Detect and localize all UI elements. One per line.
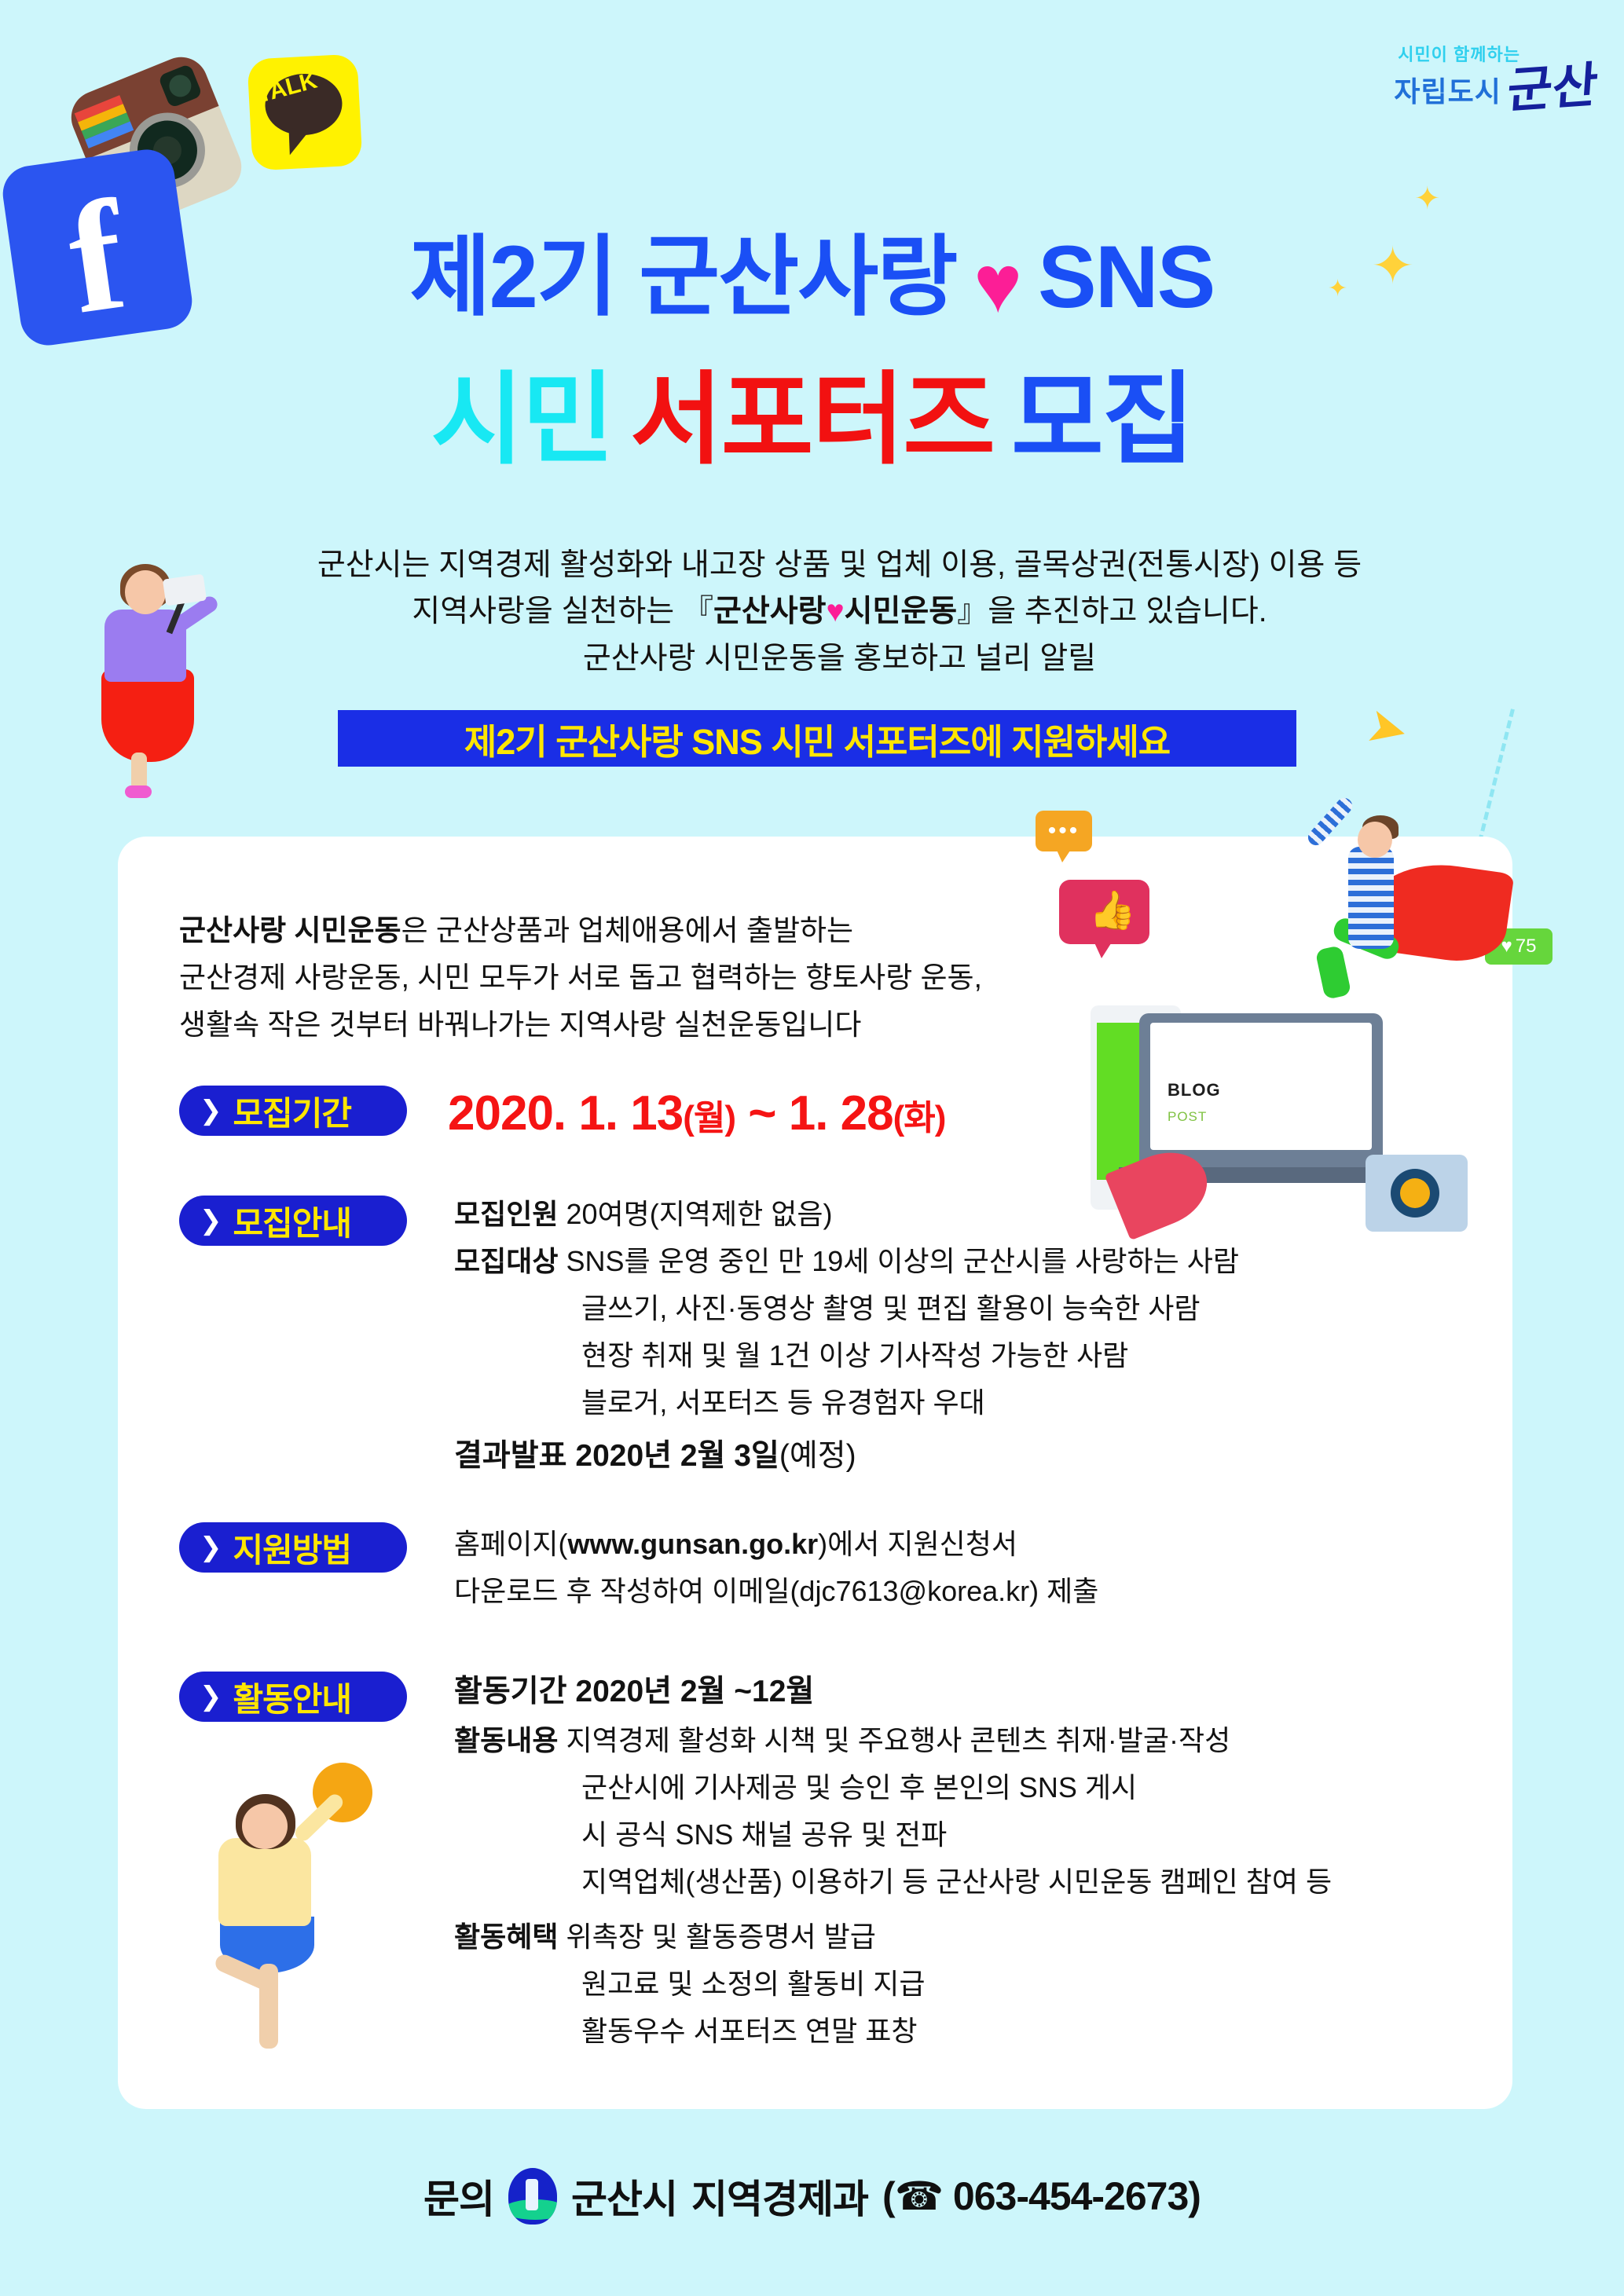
logo-brandmark: 군산 xyxy=(1506,63,1600,113)
telephone-icon: ☎ xyxy=(895,2174,943,2218)
period-start-day: (월) xyxy=(683,1099,735,1137)
post-label: POST xyxy=(1168,1109,1207,1125)
poster-root: TALK f 시민이 함께하는 자립도시 군산 ✦ ✦ ✦ 제2기 군산사랑♥S… xyxy=(0,0,1624,2296)
heart-icon: ♥ xyxy=(827,595,845,628)
result-note: (예정) xyxy=(779,1439,856,1473)
poster-title-line1: 제2기 군산사랑♥SNS xyxy=(0,206,1624,333)
logo-tagline: 시민이 함께하는 xyxy=(1394,41,1520,66)
period-start: 2020. 1. 13 xyxy=(448,1086,683,1141)
intro-line2-bold-a: 군산사랑 xyxy=(713,595,827,628)
activity-period-value: 2020년 2월 ~12월 xyxy=(575,1675,814,1708)
section-tag-activity-label: 활동안내 xyxy=(233,1673,352,1721)
camera-icon xyxy=(1366,1155,1468,1232)
apply-call-to-action-banner: 제2기 군산사랑 SNS 시민 서포터즈에 지원하세요 xyxy=(338,710,1296,767)
period-tilde: ~ xyxy=(735,1086,789,1141)
card-lead-paragraph: 군산사랑 시민운동은 군산상품과 업체애용에서 출발하는 군산경제 사랑운동, … xyxy=(179,907,982,1049)
lead-line-3: 생활속 작은 것부터 바꿔나가는 지역사랑 실천운동입니다 xyxy=(179,1002,982,1049)
chevron-right-icon: ❯ xyxy=(200,1205,222,1236)
activity-benefit-value: 위촉장 및 활동증명서 발급 xyxy=(566,1921,876,1953)
logo-subtitle: 자립도시 xyxy=(1394,69,1501,110)
title-line1-sns: SNS xyxy=(1038,228,1214,326)
paper-plane-icon: ➤ xyxy=(1361,695,1414,760)
lead-line-2: 군산경제 사랑운동, 시민 모두가 서로 돕고 협력하는 향토사랑 운동, xyxy=(179,954,982,1002)
period-end-day: (화) xyxy=(893,1099,946,1137)
activity-benefit-row: 활동혜택 위촉장 및 활동증명서 발급 xyxy=(454,1917,876,1958)
blog-label: BLOG xyxy=(1168,1080,1221,1100)
footer-dept: 지역경제과 xyxy=(691,2168,868,2225)
activity-benefit-row: 활동우수 서포터즈 연말 표창 xyxy=(581,2011,917,2052)
activity-benefit-label: 활동혜택 xyxy=(454,1921,558,1953)
intro-line2-pre: 지역사랑을 실천하는 『 xyxy=(412,595,713,628)
recruit-row: 블로거, 서포터즈 등 유경험자 우대 xyxy=(581,1382,985,1424)
recruit-row-label: 모집인원 xyxy=(454,1198,558,1230)
chevron-right-icon: ❯ xyxy=(200,1095,222,1126)
recruitment-period-value: 2020. 1. 13(월) ~ 1. 28(화) xyxy=(448,1086,945,1141)
activity-content-row: 활동내용 지역경제 활성화 시책 및 주요행사 콘텐츠 취재·발굴·작성 xyxy=(454,1720,1230,1762)
heart-icon: ♥ xyxy=(973,239,1021,330)
intro-paragraph: 군산시는 지역경제 활성화와 내고장 상품 및 업체 이용, 골목상권(전통시장… xyxy=(196,542,1483,682)
intro-line-3: 군산사랑 시민운동을 홍보하고 널리 알릴 xyxy=(196,635,1483,682)
recruit-row: 현장 취재 및 월 1건 이상 기사작성 가능한 사람 xyxy=(581,1335,1128,1377)
footer-phone-group: (☎ 063-454-2673) xyxy=(882,2173,1201,2219)
activity-benefit-row: 원고료 및 소정의 활동비 지급 xyxy=(581,1964,925,2005)
recruit-row-value: SNS를 운영 중인 만 19세 이상의 군산시를 사랑하는 사람 xyxy=(566,1245,1239,1277)
homepage-url[interactable]: www.gunsan.go.kr xyxy=(567,1528,818,1560)
title-line2-supporters: 서포터즈 xyxy=(630,364,994,476)
like-count-value: 75 xyxy=(1516,936,1537,958)
gunsan-city-emblem-icon xyxy=(508,2168,557,2225)
kakaotalk-icon: TALK xyxy=(247,53,362,170)
hero-character xyxy=(1273,801,1509,1037)
chevron-right-icon: ❯ xyxy=(200,1532,222,1563)
period-end: 1. 28 xyxy=(789,1086,893,1141)
activity-period-row: 활동기간 2020년 2월 ~12월 xyxy=(454,1670,814,1715)
apply-line1-pre: 홈페이지( xyxy=(454,1528,567,1560)
activity-content-row: 군산시에 기사제공 및 승인 후 본인의 SNS 게시 xyxy=(581,1767,1137,1809)
activity-period-label: 활동기간 xyxy=(454,1675,567,1708)
apply-row: 다운로드 후 작성하여 이메일(djc7613@korea.kr) 제출 xyxy=(454,1571,1098,1613)
apply-row: 홈페이지(www.gunsan.go.kr)에서 지원신청서 xyxy=(454,1524,1017,1565)
activity-content-label: 활동내용 xyxy=(454,1724,558,1756)
lead-rest: 은 군산상품과 업체애용에서 출발하는 xyxy=(401,914,853,947)
footer-phone-number[interactable]: 063-454-2673 xyxy=(953,2174,1188,2218)
section-tag-apply-label: 지원방법 xyxy=(233,1524,352,1572)
lead-bold-term: 군산사랑 시민운동 xyxy=(179,914,401,947)
cheerleader-illustration xyxy=(141,1728,377,2058)
title-line2-recruit: 모집 xyxy=(1011,364,1193,476)
section-tag-apply: ❯ 지원방법 xyxy=(179,1522,407,1573)
phone-paren-close: ) xyxy=(1188,2174,1201,2218)
intro-line-2: 지역사랑을 실천하는 『군산사랑♥시민운동』을 추진하고 있습니다. xyxy=(196,588,1483,635)
chat-bubble-icon: ••• xyxy=(1036,811,1092,851)
title-line1-korean: 제2기 군산사랑 xyxy=(410,228,957,326)
footer-org: 군산시 xyxy=(571,2168,677,2225)
poster-title-line2: 시민서포터즈모집 xyxy=(0,338,1624,483)
result-date: 2020년 2월 3일 xyxy=(575,1439,779,1473)
lead-line-1: 군산사랑 시민운동은 군산상품과 업체애용에서 출발하는 xyxy=(179,907,982,954)
section-tag-recruit-label: 모집안내 xyxy=(233,1197,352,1245)
thumbs-up-icon: 👍 xyxy=(1089,892,1136,930)
like-bubble-icon: 👍 xyxy=(1059,880,1149,944)
recruit-row-label: 모집대상 xyxy=(454,1245,558,1277)
activity-content-row: 지역업체(생산품) 이용하기 등 군산사랑 시민운동 캠페인 참여 등 xyxy=(581,1862,1332,1903)
intro-line2-post: 』을 추진하고 있습니다. xyxy=(957,595,1267,628)
recruit-row: 모집대상 SNS를 운영 중인 만 19세 이상의 군산시를 사랑하는 사람 xyxy=(454,1241,1239,1283)
section-tag-period-label: 모집기간 xyxy=(233,1087,352,1135)
section-tag-period: ❯ 모집기간 xyxy=(179,1086,407,1136)
footer-inquiry-label: 문의 xyxy=(423,2168,494,2225)
phone-paren-open: ( xyxy=(882,2174,895,2218)
title-line2-citizen: 시민 xyxy=(431,364,613,476)
activity-content-value: 지역경제 활성화 시책 및 주요행사 콘텐츠 취재·발굴·작성 xyxy=(566,1724,1231,1756)
intro-line-1: 군산시는 지역경제 활성화와 내고장 상품 및 업체 이용, 골목상권(전통시장… xyxy=(196,542,1483,588)
chevron-right-icon: ❯ xyxy=(200,1681,222,1712)
sns-hero-illustration: ••• 👍 ♥75 BLOG POST xyxy=(1014,785,1564,1194)
recruit-row: 모집인원 20여명(지역제한 없음) xyxy=(454,1194,832,1236)
section-tag-recruit: ❯ 모집안내 xyxy=(179,1196,407,1246)
city-logo: 시민이 함께하는 자립도시 군산 xyxy=(1394,41,1597,110)
result-announcement-row: 결과발표 2020년 2월 3일(예정) xyxy=(454,1434,856,1479)
section-tag-activity: ❯ 활동안내 xyxy=(179,1672,407,1722)
footer-contact: 문의 군산시 지역경제과 (☎ 063-454-2673) xyxy=(0,2168,1624,2225)
activity-content-row: 시 공식 SNS 채널 공유 및 전파 xyxy=(581,1814,947,1856)
recruit-row-value: 20여명(지역제한 없음) xyxy=(566,1198,833,1230)
recruit-row: 글쓰기, 사진·동영상 촬영 및 편집 활용이 능숙한 사람 xyxy=(581,1288,1201,1330)
apply-line1-post: )에서 지원신청서 xyxy=(818,1528,1017,1560)
intro-line2-bold-b: 시민운동 xyxy=(845,595,958,628)
result-label: 결과발표 xyxy=(454,1439,567,1473)
